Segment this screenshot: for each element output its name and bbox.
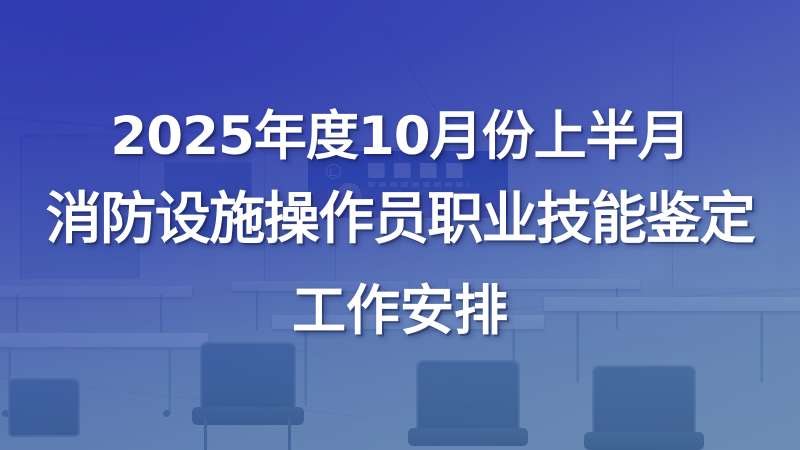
poster-canvas: 2025年度10月份上半月 消防设施操作员职业技能鉴定 工作安排: [0, 0, 800, 450]
title-line-3: 工作安排: [292, 267, 508, 355]
title-line-1: 2025年度10月份上半月: [110, 101, 689, 173]
title-line-2: 消防设施操作员职业技能鉴定: [46, 173, 755, 267]
poster-title-block: 2025年度10月份上半月 消防设施操作员职业技能鉴定 工作安排: [0, 0, 800, 450]
